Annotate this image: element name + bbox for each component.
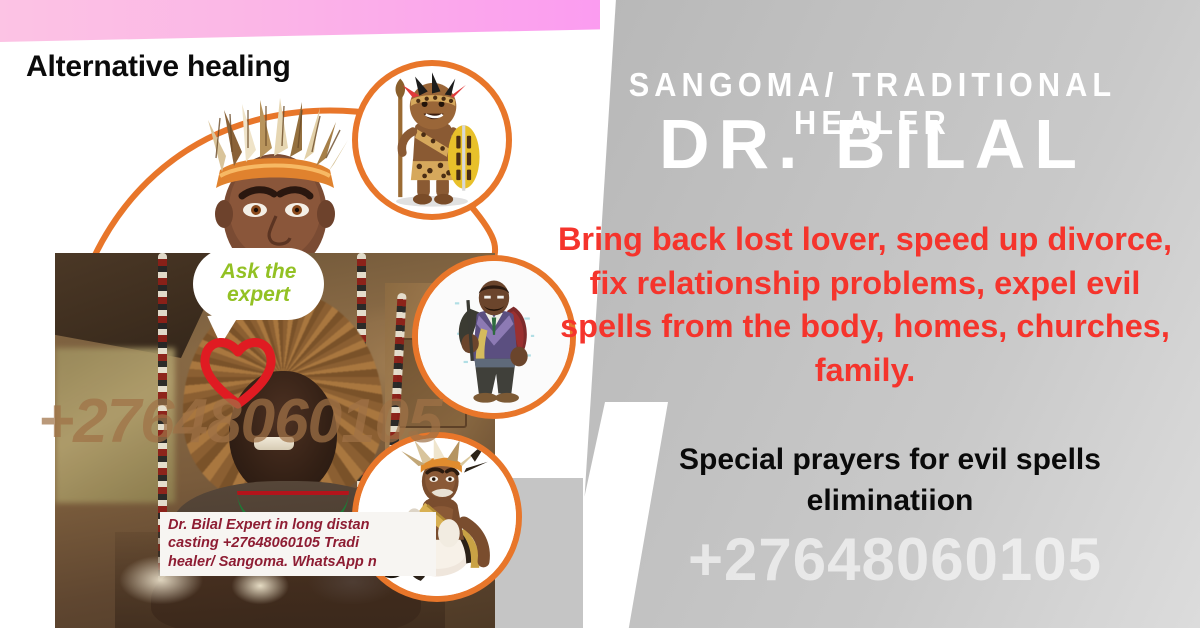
- poster-canvas: Alternative healing: [0, 0, 1200, 628]
- photo-caption: Dr. Bilal Expert in long distan casting …: [160, 512, 436, 576]
- photo-watermark-number: +27648060105: [38, 386, 442, 457]
- ask-the-expert-bubble: Ask the expert: [193, 248, 324, 320]
- zulu-warrior-cartoon-icon: [358, 66, 506, 214]
- services-copy: Bring back lost lover, speed up divorce,…: [548, 218, 1182, 392]
- bubble-text: Ask the expert: [193, 248, 324, 320]
- top-pink-bar: [0, 0, 600, 42]
- caption-line-3: healer/ Sangoma. WhatsApp n: [168, 553, 428, 571]
- circle-badge-zulu-warrior: [352, 60, 512, 220]
- page-title: Alternative healing: [26, 50, 291, 84]
- bubble-line-2: expert: [227, 284, 290, 307]
- ghost-phone-number: +27648060105: [600, 525, 1190, 594]
- caption-line-1: Dr. Bilal Expert in long distan: [168, 516, 428, 534]
- brand-name: DR. BILAL: [560, 108, 1185, 182]
- bubble-line-1: Ask the: [221, 261, 297, 284]
- prayers-copy: Special prayers for evil spells eliminat…: [600, 440, 1180, 522]
- caption-line-2: casting +27648060105 Tradi: [168, 534, 428, 552]
